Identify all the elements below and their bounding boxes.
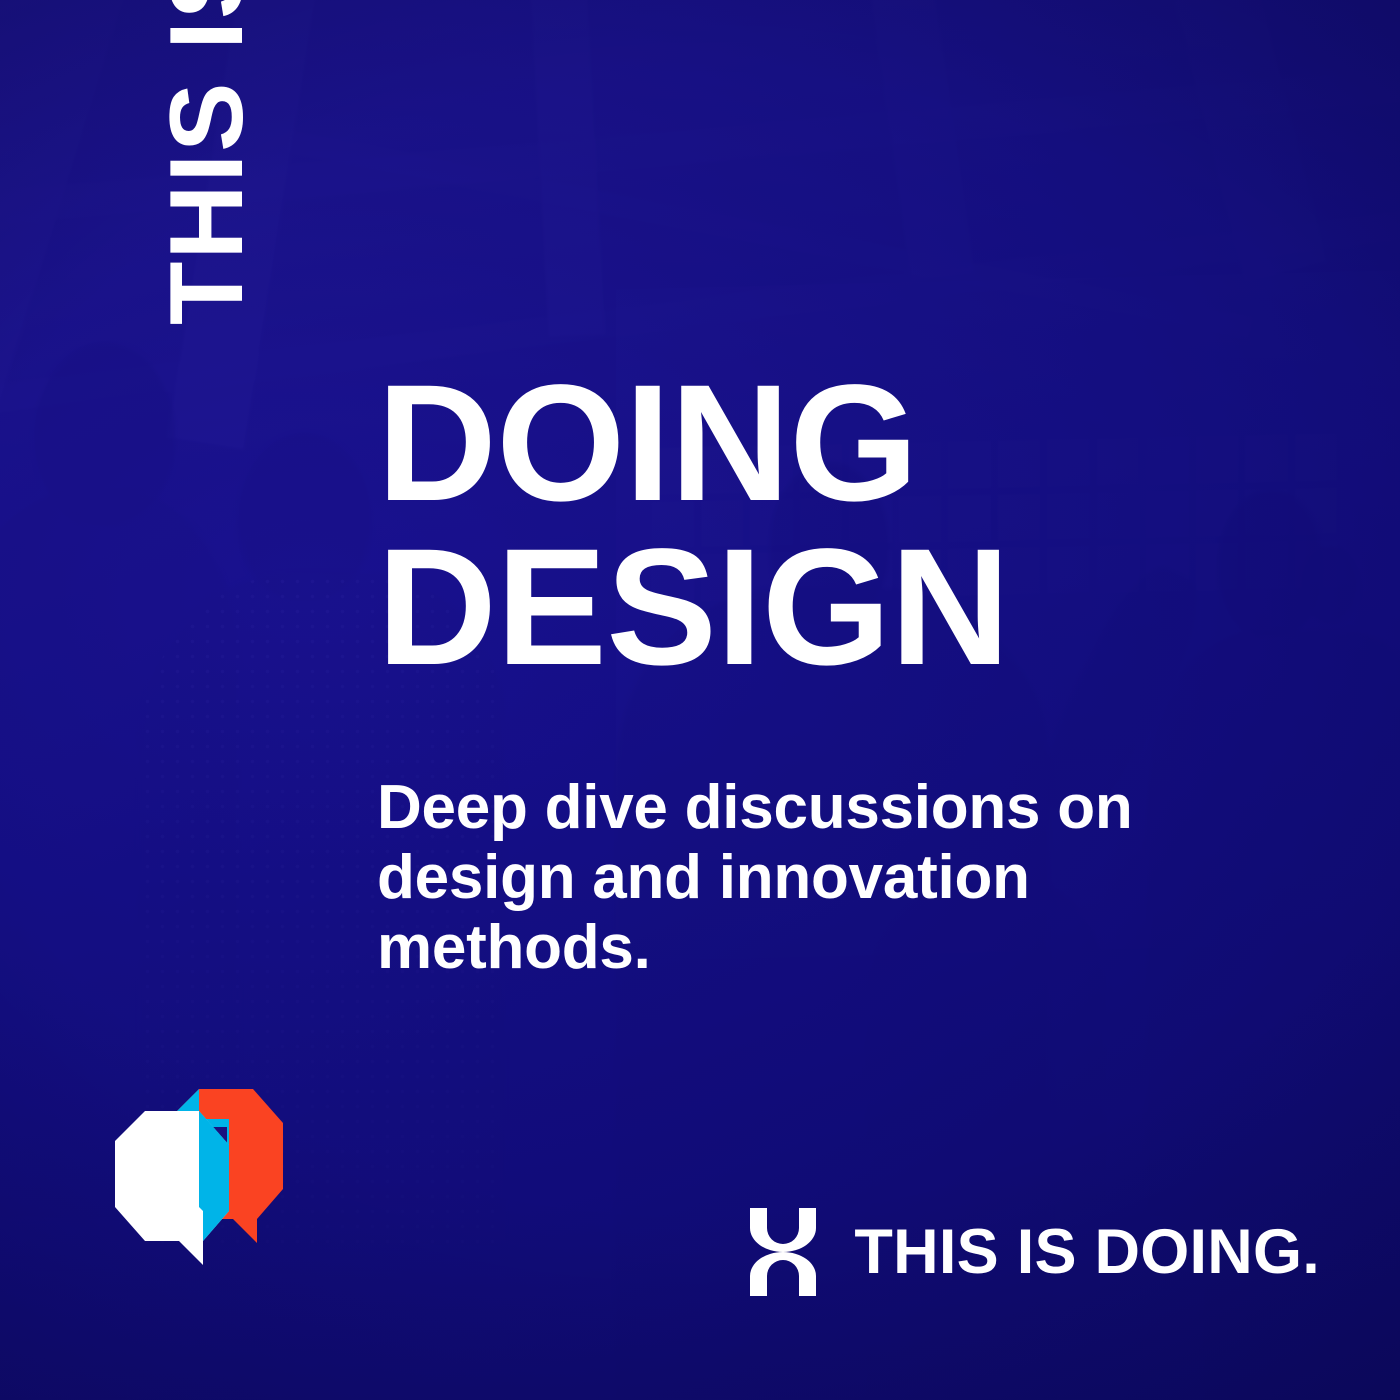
vertical-brand-lockup: THIS IS HCD [139, 0, 259, 325]
brand-this-is-text: THIS IS [155, 0, 259, 325]
title-line-1: DOING [377, 362, 1137, 526]
title-line-2: DESIGN [377, 526, 1137, 690]
page-title: DOING DESIGN [377, 362, 1137, 691]
this-is-doing-wordmark: THIS IS DOING. [854, 1221, 1320, 1284]
podcast-cover-art: THIS IS HCD DOING DESIGN Deep dive discu… [0, 0, 1400, 1400]
subtitle: Deep dive discussions on design and inno… [377, 773, 1282, 983]
hourglass-mark-icon [746, 1206, 820, 1298]
cover-content: THIS IS HCD DOING DESIGN Deep dive discu… [0, 0, 1400, 1400]
this-is-doing-lockup: THIS IS DOING. [746, 1206, 1320, 1298]
this-is-hcd-logo-icon [101, 1083, 297, 1268]
